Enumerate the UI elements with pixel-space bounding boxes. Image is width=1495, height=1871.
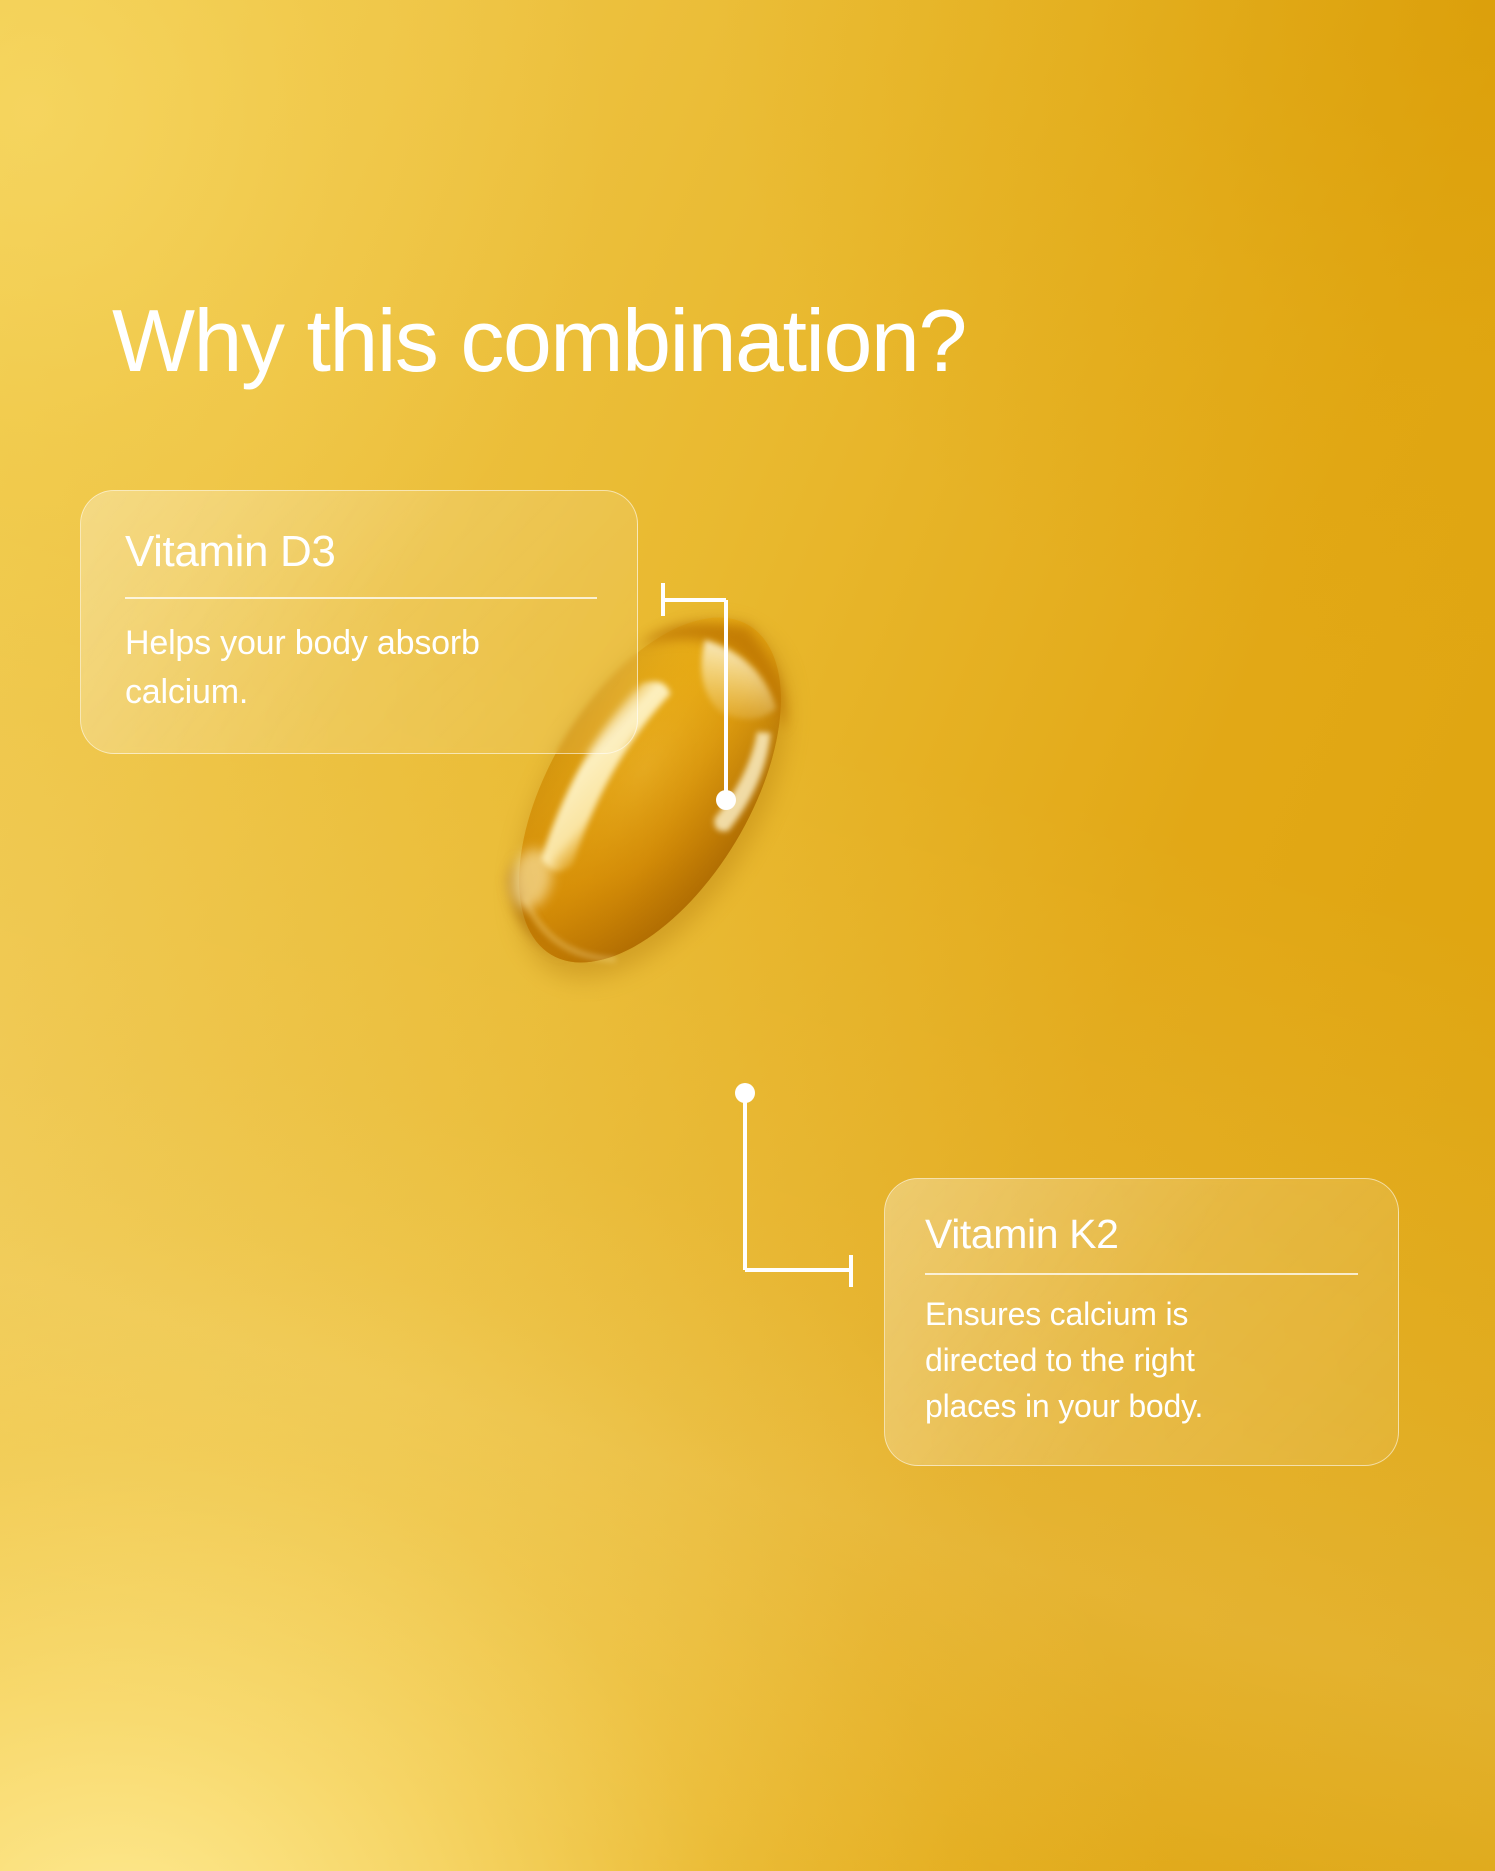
card-vitamin-k2[interactable]: Vitamin K2 Ensures calcium is directed t…	[884, 1178, 1399, 1466]
card-vitamin-d3[interactable]: Vitamin D3 Helps your body absorb calciu…	[80, 490, 638, 754]
card-vitamin-k2-title: Vitamin K2	[925, 1209, 1358, 1259]
card-vitamin-k2-divider	[925, 1273, 1358, 1275]
promo-slide: Why this combination?	[0, 0, 1495, 1871]
card-vitamin-k2-body: Ensures calcium is directed to the right…	[925, 1291, 1358, 1429]
card-vitamin-d3-body: Helps your body absorb calcium.	[125, 619, 597, 717]
card-vitamin-d3-title: Vitamin D3	[125, 525, 597, 579]
card-vitamin-d3-divider	[125, 597, 597, 599]
page-title: Why this combination?	[112, 291, 1312, 391]
